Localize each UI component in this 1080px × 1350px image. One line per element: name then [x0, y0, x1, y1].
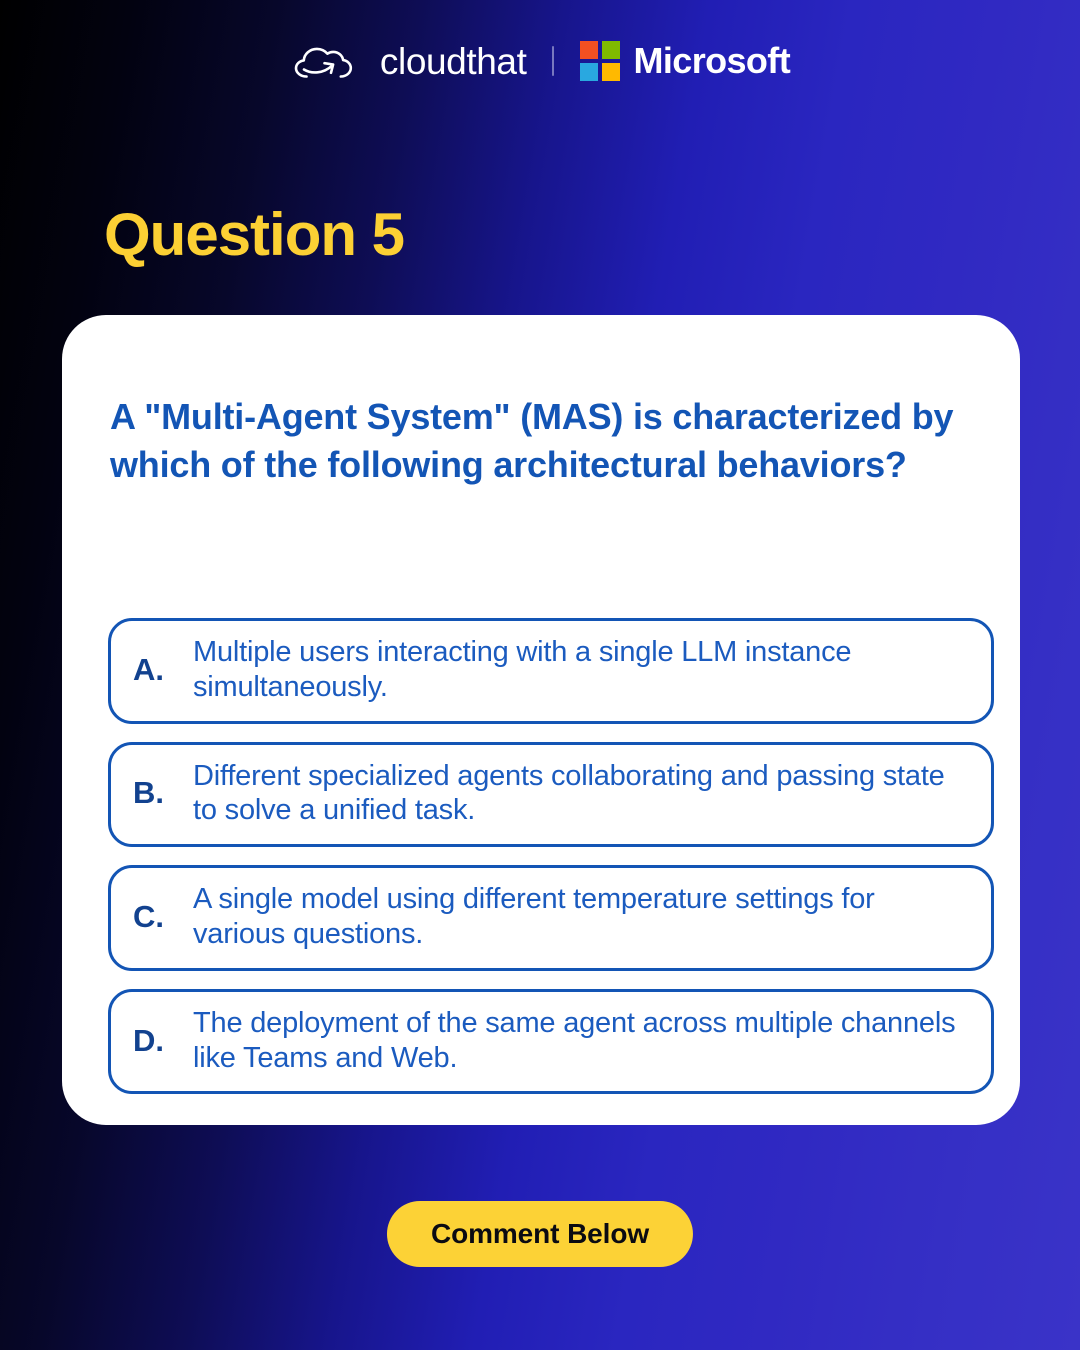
microsoft-squares-icon — [580, 41, 620, 81]
ms-square-yellow — [602, 63, 620, 81]
cloud-arrow-icon — [290, 38, 366, 84]
microsoft-wordmark: Microsoft — [633, 43, 790, 79]
page-title: Question 5 — [104, 203, 404, 266]
question-card: A "Multi-Agent System" (MAS) is characte… — [62, 315, 1020, 1125]
poster-canvas: cloudthat Microsoft Question 5 A "Multi-… — [0, 0, 1080, 1350]
option-d[interactable]: D. The deployment of the same agent acro… — [108, 989, 994, 1095]
microsoft-logo: Microsoft — [580, 41, 790, 81]
brand-divider — [552, 46, 554, 76]
cloudthat-logo: cloudthat — [290, 38, 527, 84]
option-b[interactable]: B. Different specialized agents collabor… — [108, 742, 994, 848]
option-b-text: Different specialized agents collaborati… — [193, 759, 969, 829]
cloudthat-wordmark: cloudthat — [380, 43, 527, 80]
comment-below-button[interactable]: Comment Below — [387, 1201, 693, 1267]
option-a-letter: A. — [133, 653, 175, 687]
brand-header: cloudthat Microsoft — [0, 38, 1080, 84]
ms-square-green — [602, 41, 620, 59]
option-c-letter: C. — [133, 900, 175, 934]
option-a[interactable]: A. Multiple users interacting with a sin… — [108, 618, 994, 724]
option-d-text: The deployment of the same agent across … — [193, 1006, 969, 1076]
question-text: A "Multi-Agent System" (MAS) is characte… — [110, 393, 978, 489]
option-list: A. Multiple users interacting with a sin… — [108, 618, 994, 1094]
ms-square-red — [580, 41, 598, 59]
option-a-text: Multiple users interacting with a single… — [193, 635, 969, 705]
option-b-letter: B. — [133, 776, 175, 810]
option-c-text: A single model using different temperatu… — [193, 882, 969, 952]
option-d-letter: D. — [133, 1024, 175, 1058]
ms-square-blue — [580, 63, 598, 81]
option-c[interactable]: C. A single model using different temper… — [108, 865, 994, 971]
